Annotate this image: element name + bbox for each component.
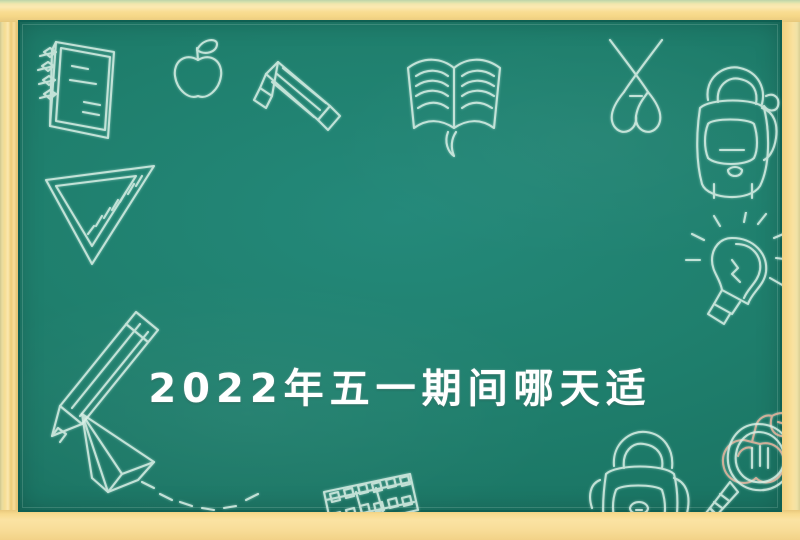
frame-bottom-edge [0, 510, 800, 540]
crayon-icon [244, 44, 354, 154]
chalkboard-banner: 2022年五一期间哪天适 合搬家_假期里有三日乔迁吉 [0, 0, 800, 540]
page-title: 2022年五一期间哪天适 合搬家_假期里有三日乔迁吉 [18, 234, 782, 512]
frame-right-edge [780, 0, 800, 540]
backpack-icon [674, 54, 782, 214]
frame-left-edge [0, 0, 20, 540]
chalkboard-surface: 2022年五一期间哪天适 合搬家_假期里有三日乔迁吉 [18, 20, 782, 512]
frame-top-edge [0, 0, 800, 22]
notebook-icon [26, 26, 146, 156]
title-line-1: 2022年五一期间哪天适 [18, 358, 782, 420]
apple-icon [163, 34, 233, 106]
open-book-icon [386, 32, 526, 162]
